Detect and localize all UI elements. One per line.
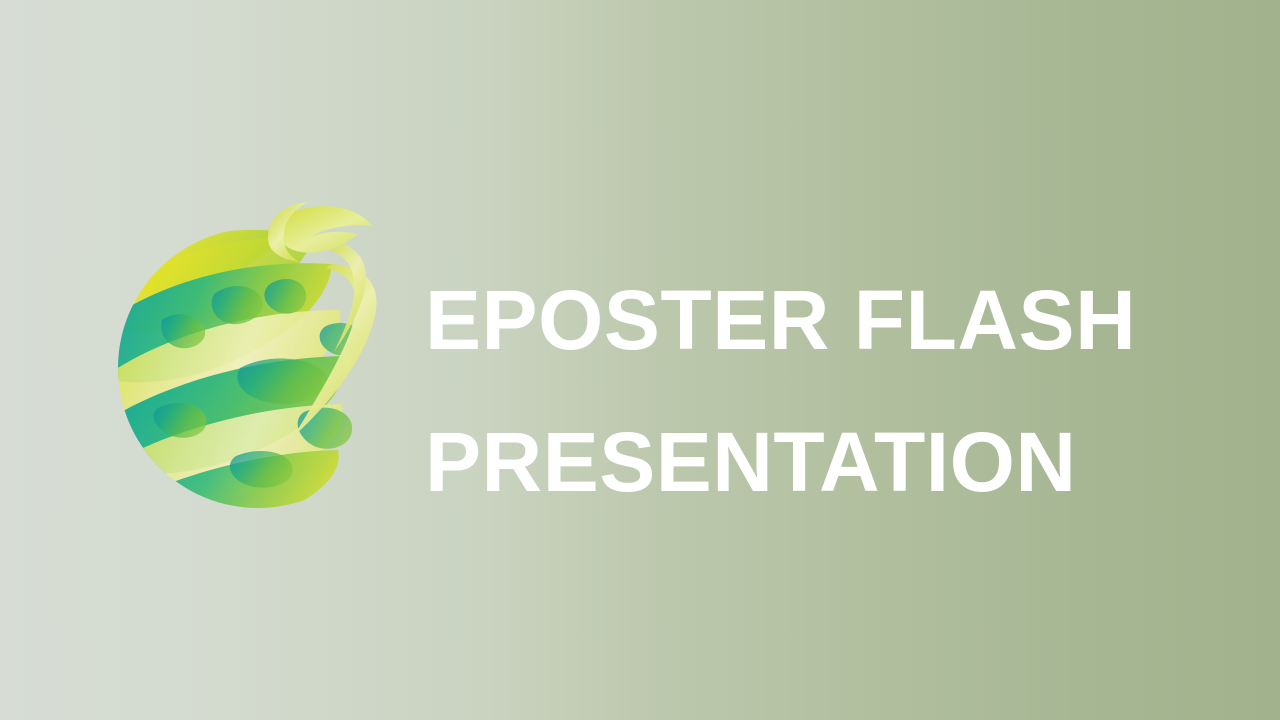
globe-ribbon-leaf-logo	[118, 198, 408, 508]
title-line-2: PRESENTATION	[425, 391, 1225, 533]
slide-title: EPOSTER FLASH PRESENTATION	[425, 249, 1225, 533]
title-line-1: EPOSTER FLASH	[425, 249, 1225, 391]
slide-canvas: EPOSTER FLASH PRESENTATION	[0, 0, 1280, 720]
globe-ribbons	[118, 230, 362, 508]
